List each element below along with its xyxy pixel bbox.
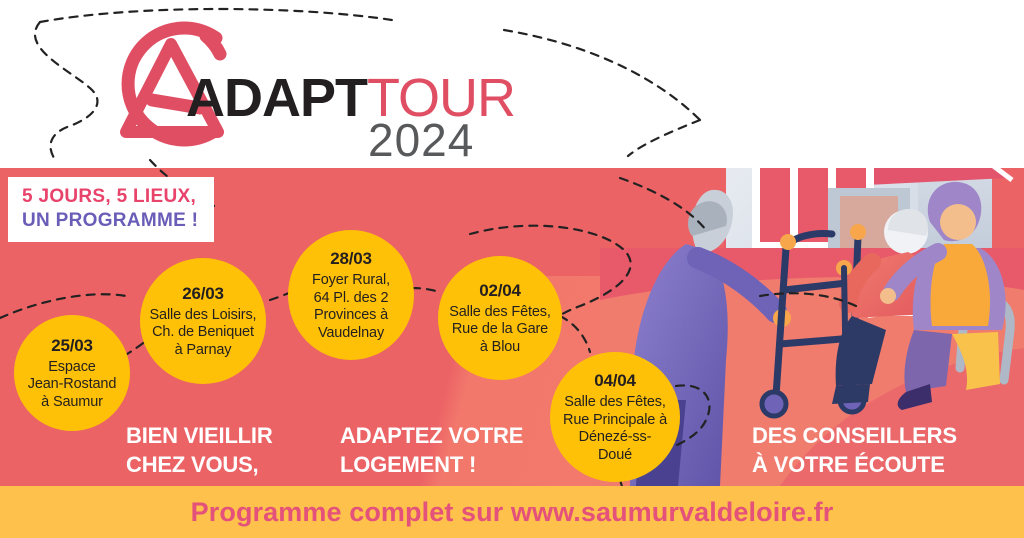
footer-banner: Programme complet sur www.saumurvaldeloi… [0, 486, 1024, 538]
date-circle-4-venue: Salle des Fêtes,Rue de la Gareà Blou [449, 304, 551, 357]
logo-year: 2024 [368, 113, 474, 167]
date-circle-3[interactable]: 28/03 Foyer Rural,64 Pl. des 2Provinces … [288, 230, 414, 360]
adapt-tour-poster: ADAPTTOUR 2024 5 JOURS, 5 LIEUX, UN PROG… [0, 0, 1024, 538]
footer-url-text[interactable]: Programme complet sur www.saumurvaldeloi… [191, 497, 834, 528]
date-circle-2[interactable]: 26/03 Salle des Loisirs,Ch. de Beniquetà… [140, 258, 266, 384]
date-circle-5-venue: Salle des Fêtes,Rue Principale àDénezé-s… [563, 394, 667, 465]
logo-word-adapt: ADAPT [186, 68, 367, 128]
slogan-adaptez-logement: ADAPTEZ VOTRELOGEMENT ! [340, 421, 523, 480]
date-circle-1-venue: EspaceJean-Rostandà Saumur [28, 359, 116, 412]
tagline-line-1: 5 JOURS, 5 LIEUX, [22, 185, 198, 209]
date-circle-1[interactable]: 25/03 EspaceJean-Rostandà Saumur [14, 315, 130, 431]
date-circle-4[interactable]: 02/04 Salle des Fêtes,Rue de la Gareà Bl… [438, 256, 562, 380]
date-circle-2-date: 26/03 [182, 282, 224, 307]
walking-cane [844, 268, 846, 390]
slogan-des-conseillers: DES CONSEILLERSÀ VOTRE ÉCOUTE [752, 421, 957, 480]
date-circle-4-date: 02/04 [479, 279, 521, 304]
tagline-box: 5 JOURS, 5 LIEUX, UN PROGRAMME ! [8, 177, 214, 242]
date-circle-5[interactable]: 04/04 Salle des Fêtes,Rue Principale àDé… [550, 352, 680, 482]
slogan-bien-vieillir: BIEN VIEILLIRCHEZ VOUS, [126, 421, 273, 480]
tagline-line-2: UN PROGRAMME ! [22, 209, 198, 233]
date-circle-3-date: 28/03 [330, 247, 372, 272]
walker-wheel-left [762, 392, 786, 416]
adapt-tour-logo: ADAPTTOUR 2024 [96, 14, 516, 154]
date-circle-1-date: 25/03 [51, 334, 93, 359]
date-circle-2-venue: Salle des Loisirs,Ch. de Beniquetà Parna… [150, 307, 257, 360]
date-circle-3-venue: Foyer Rural,64 Pl. des 2Provinces àVaude… [312, 272, 390, 343]
date-circle-5-date: 04/04 [594, 369, 636, 394]
